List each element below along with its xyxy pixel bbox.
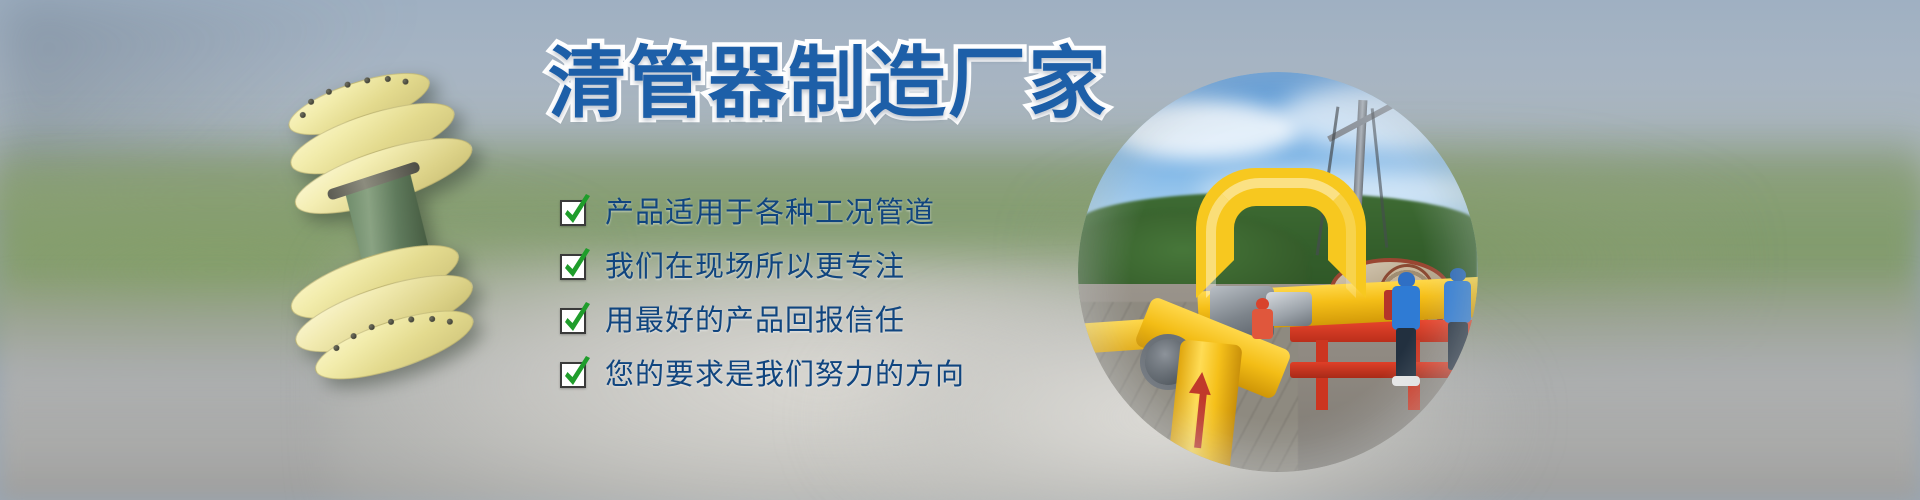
feature-list-item-label: 您的要求是我们努力的方向 — [605, 359, 965, 391]
feature-list: 产品适用于各种工况管道 我们在现场所以更专注 用最好的产品回报信任 — [560, 196, 965, 392]
check-icon — [560, 362, 586, 388]
check-icon — [560, 254, 586, 280]
pipeline-site-photo — [1078, 72, 1478, 472]
banner-title: 清管器制造厂家 — [548, 42, 1108, 124]
feature-list-item-label: 用最好的产品回报信任 — [605, 305, 905, 337]
check-icon — [560, 200, 586, 226]
feature-list-item-label: 产品适用于各种工况管道 — [605, 197, 935, 229]
feature-list-item: 用最好的产品回报信任 — [560, 304, 965, 338]
check-icon — [560, 308, 586, 334]
feature-list-item: 您的要求是我们努力的方向 — [560, 358, 965, 392]
promo-banner: 清管器制造厂家 产品适用于各种工况管道 我们在现场所以更专注 — [0, 0, 1920, 500]
feature-list-item: 我们在现场所以更专注 — [560, 250, 965, 284]
feature-list-item-label: 我们在现场所以更专注 — [605, 251, 905, 283]
photo-edge-fade — [1078, 72, 1478, 472]
feature-list-item: 产品适用于各种工况管道 — [560, 196, 965, 230]
